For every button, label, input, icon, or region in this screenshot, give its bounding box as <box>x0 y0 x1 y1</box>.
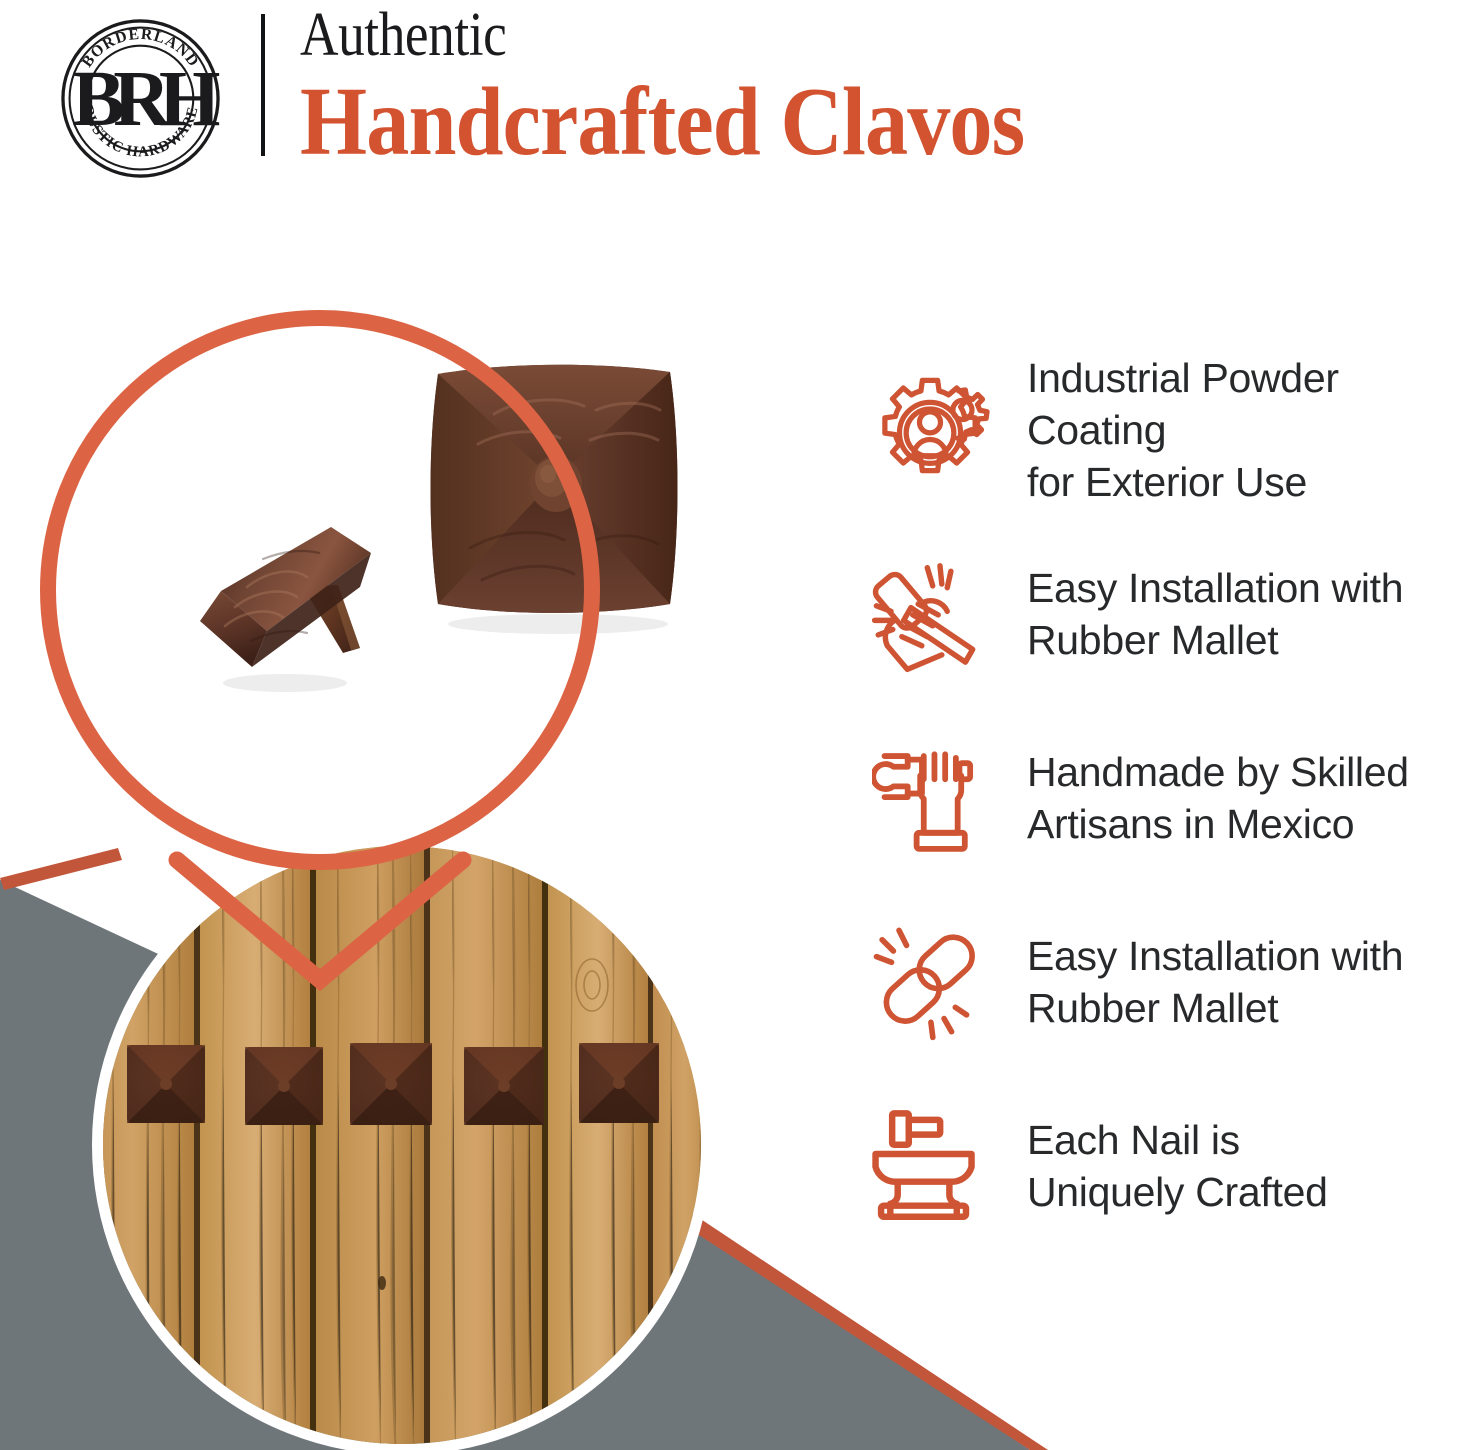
clavo-nail-front-view <box>408 348 698 638</box>
feature-label-line1: Each Nail is <box>1027 1114 1328 1166</box>
feature-label-line2: Rubber Mallet <box>1027 614 1403 666</box>
feature-label: Handmade by Skilled Artisans in Mexico <box>1005 746 1409 850</box>
feature-item: Industrial Powder Coating for Exterior U… <box>855 360 1475 500</box>
feature-item: Easy Installation with Rubber Mallet <box>855 544 1475 684</box>
feature-label-line2: Artisans in Mexico <box>1027 798 1409 850</box>
clavo-nail-angled-with-spike <box>155 435 425 735</box>
feature-label-line1: Industrial Powder Coating <box>1027 352 1475 456</box>
feature-label: Industrial Powder Coating for Exterior U… <box>1005 352 1475 508</box>
header-divider <box>261 14 265 156</box>
feature-label-line2: for Exterior Use <box>1027 456 1475 508</box>
infographic-canvas: BORDERLAND RUSTIC HARDWARE BRH Authentic… <box>0 0 1477 1450</box>
installed-clavos-photo <box>92 835 712 1450</box>
feature-label-line2: Uniquely Crafted <box>1027 1166 1328 1218</box>
feature-label: Each Nail is Uniquely Crafted <box>1005 1114 1328 1218</box>
chain-link-icon <box>855 912 1005 1052</box>
page-title-superline: Authentic <box>300 4 1263 66</box>
page-title: Handcrafted Clavos <box>300 70 1286 174</box>
feature-label-line1: Handmade by Skilled <box>1027 746 1409 798</box>
product-visual-area <box>0 190 840 1450</box>
hand-mallet-icon <box>855 544 1005 684</box>
gear-person-icon <box>855 360 1005 500</box>
hand-wrench-icon <box>855 728 1005 868</box>
header-title-block: Authentic Handcrafted Clavos <box>300 4 1420 174</box>
feature-label-line1: Easy Installation with <box>1027 562 1403 614</box>
feature-list: Industrial Powder Coating for Exterior U… <box>855 360 1475 1280</box>
feature-label-line2: Rubber Mallet <box>1027 982 1403 1034</box>
header-bar: BORDERLAND RUSTIC HARDWARE BRH Authentic… <box>0 0 1477 190</box>
feature-label: Easy Installation with Rubber Mallet <box>1005 930 1403 1034</box>
feature-item: Easy Installation with Rubber Mallet <box>855 912 1475 1052</box>
feature-label-line1: Easy Installation with <box>1027 930 1403 982</box>
brand-logo-icon: BORDERLAND RUSTIC HARDWARE BRH <box>58 16 223 181</box>
anvil-hammer-icon <box>855 1096 1005 1236</box>
feature-item: Each Nail is Uniquely Crafted <box>855 1096 1475 1236</box>
wood-door-photo <box>92 835 712 1450</box>
feature-label: Easy Installation with Rubber Mallet <box>1005 562 1403 666</box>
logo-monogram: BRH <box>72 55 220 143</box>
feature-item: Handmade by Skilled Artisans in Mexico <box>855 728 1475 868</box>
